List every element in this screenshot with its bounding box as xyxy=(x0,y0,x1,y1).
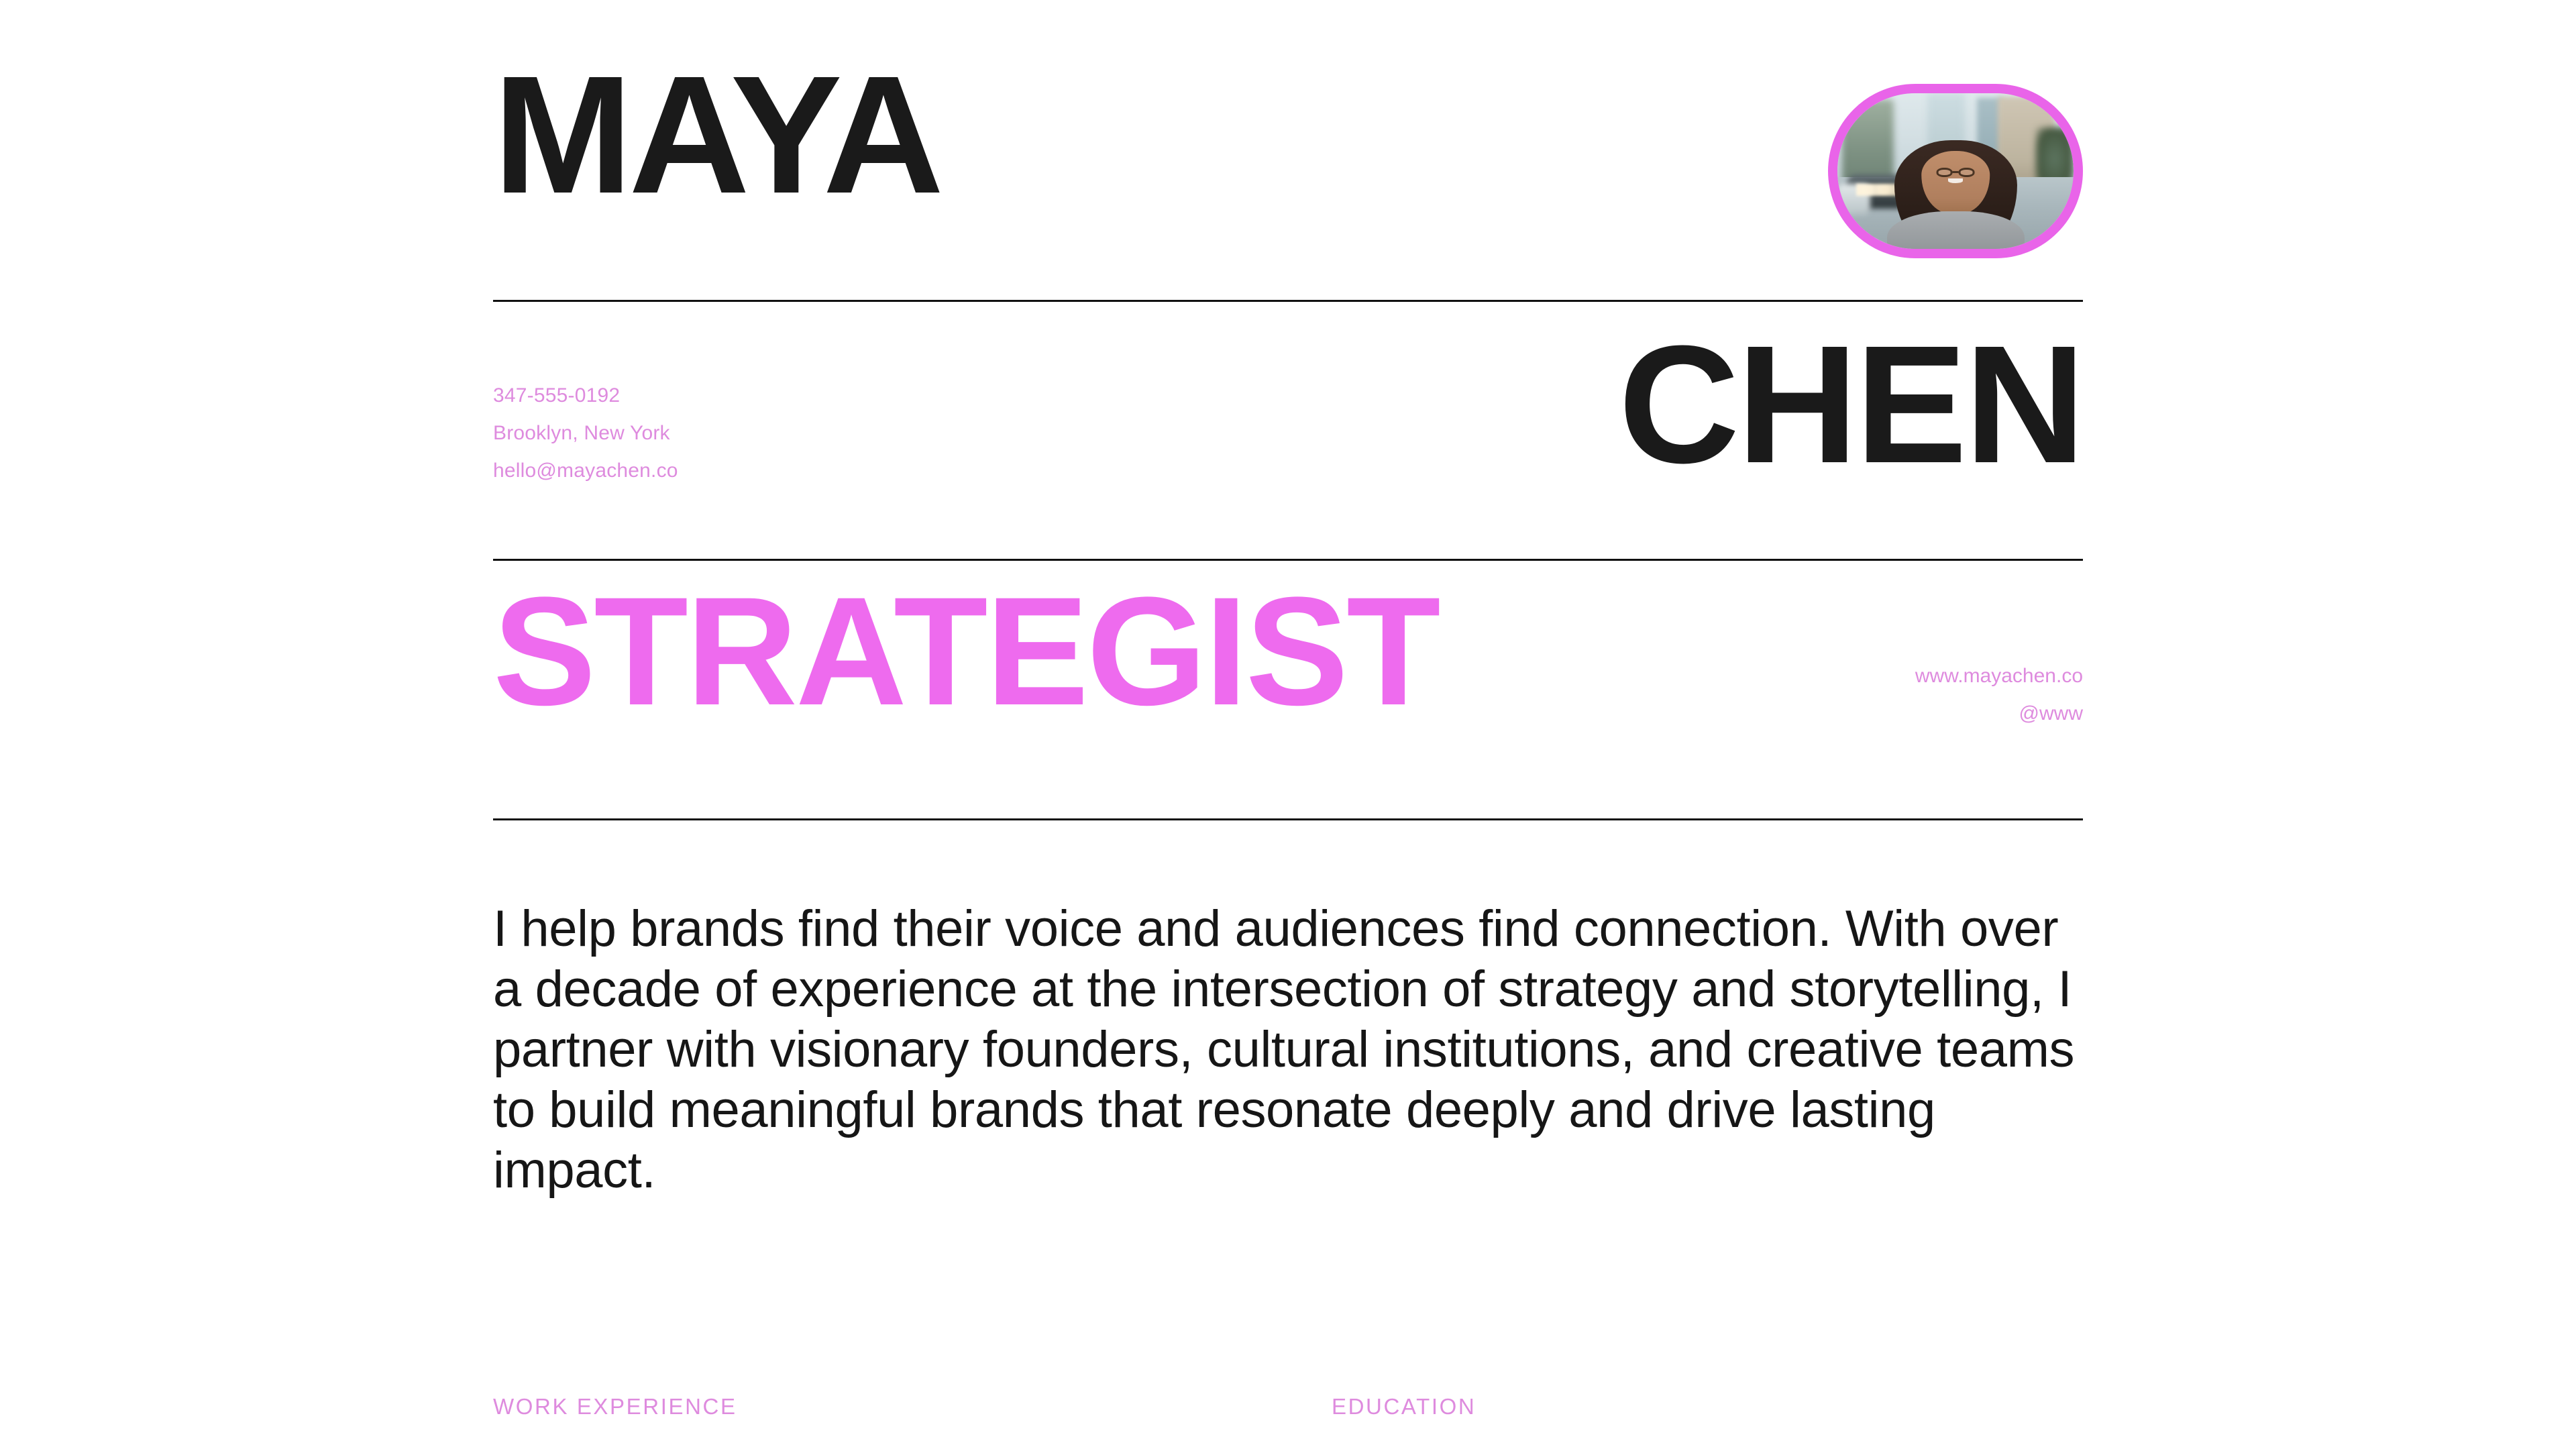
bio-paragraph: I help brands find their voice and audie… xyxy=(493,899,2096,1201)
photo-building-left xyxy=(1842,99,1894,186)
section-label-work-experience: WORK EXPERIENCE xyxy=(493,1394,737,1419)
role-row: STRATEGIST www.mayachen.co @www xyxy=(493,590,2083,792)
section-label-education: EDUCATION xyxy=(1332,1394,1476,1419)
first-name-heading: MAYA xyxy=(493,51,940,219)
glasses-bridge xyxy=(1952,171,1958,173)
profile-photo-frame xyxy=(1828,84,2083,258)
contact-block: 347-555-0192 Brooklyn, New York hello@ma… xyxy=(493,377,678,490)
photo-person xyxy=(1894,140,2017,249)
contact-email[interactable]: hello@mayachen.co xyxy=(493,452,678,490)
resume-page: MAYA xyxy=(0,0,2576,1449)
glasses-lens-left xyxy=(1936,168,1952,177)
contact-location: Brooklyn, New York xyxy=(493,415,678,452)
last-name-heading: CHEN xyxy=(1619,321,2083,488)
header-bottom-row: 347-555-0192 Brooklyn, New York hello@ma… xyxy=(493,335,2083,537)
profile-photo xyxy=(1837,93,2074,249)
website-link[interactable]: www.mayachen.co xyxy=(1915,657,2083,695)
divider-rule-2 xyxy=(493,559,2083,561)
divider-rule-3 xyxy=(493,818,2083,820)
divider-rule-1 xyxy=(493,300,2083,302)
contact-phone[interactable]: 347-555-0192 xyxy=(493,377,678,415)
glasses-icon xyxy=(1936,168,1974,177)
glasses-lens-right xyxy=(1959,168,1975,177)
photo-person-smile xyxy=(1948,178,1964,183)
web-links-block: www.mayachen.co @www xyxy=(1915,657,2083,733)
social-handle[interactable]: @www xyxy=(1915,695,2083,733)
header-top-row: MAYA xyxy=(493,74,2083,275)
role-heading: STRATEGIST xyxy=(493,574,1439,729)
